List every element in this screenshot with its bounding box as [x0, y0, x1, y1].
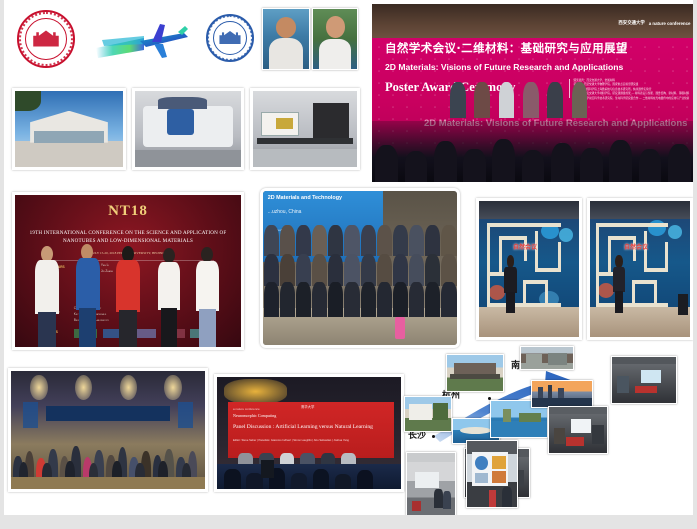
conference-grand-group-photo: [8, 368, 208, 492]
banner-sponsor-logos: 西安交通大学 a nature conference: [618, 20, 690, 26]
audience-head: [522, 150, 545, 182]
aircraft-icon: [92, 18, 192, 66]
portrait-head: [326, 16, 344, 38]
audience-head: [492, 139, 515, 182]
maze-line: [523, 280, 547, 284]
award-recipients-on-stage: [450, 82, 593, 118]
maze-line: [644, 231, 647, 272]
front-audience: [217, 464, 401, 489]
portrait-shirt: [319, 39, 351, 69]
river-city-skyline-dusk: [531, 380, 593, 408]
audience-head: [375, 145, 398, 182]
panel-stage: a nature conference Neuromorphic Computi…: [217, 377, 401, 489]
university-library-building: [12, 88, 126, 170]
attendee-rows: [263, 225, 457, 317]
person: [572, 82, 588, 118]
maze-line: [632, 280, 656, 284]
panel-discussion-photo: a nature conference Neuromorphic Computi…: [214, 374, 404, 492]
attendee-at-maze-backdrop-2: 自然会议: [587, 198, 693, 340]
stage-light: [178, 402, 194, 428]
seminar-room-slides: [548, 406, 608, 454]
audience-head: [580, 148, 603, 182]
optical-table: [257, 138, 353, 144]
sponsor-logo-nature: a nature conference: [649, 21, 691, 26]
library-windows: [34, 131, 103, 143]
speaker-box: [678, 294, 688, 316]
attendee-row-back: [263, 225, 457, 256]
maze-line: [499, 236, 502, 271]
chandelier: [120, 375, 137, 401]
backdrop-chinese-text: 自然会议: [513, 242, 537, 251]
stage-light: [23, 402, 39, 428]
conference-stage-banner: 西安交通大学 a nature conference 自然学术会议·二维材料：基…: [372, 4, 693, 182]
screen-plot: [276, 118, 293, 129]
panel-topic: Neuromorphic Computing: [233, 413, 276, 418]
maze-wall-art: 自然会议: [590, 201, 690, 337]
maze-line: [596, 223, 668, 227]
person: [523, 82, 539, 118]
person: [450, 82, 466, 118]
decor-circle: [559, 228, 573, 242]
attendee-row-mid: [263, 254, 457, 285]
under-bench: [253, 149, 357, 167]
ceiling-lights: [479, 201, 579, 219]
person: [499, 82, 515, 118]
campus-gate-photo: [446, 354, 504, 392]
audience-head: [434, 141, 457, 182]
camera-tripod: [261, 460, 274, 478]
person: [155, 244, 186, 347]
instrument-enclosure: [313, 103, 348, 141]
lobby-floor: [590, 307, 690, 337]
panel-speakers: Editor: Steve Seber | Panelists: Giacomo…: [233, 439, 349, 442]
nt18-logo: NT18: [108, 203, 148, 220]
panel-title: Panel Discussion : Artificial Learning v…: [233, 424, 373, 430]
xiamen-university-seal: [206, 14, 254, 62]
male-researcher-portrait: [262, 8, 310, 70]
nt18-backdrop: NT18 19TH INTERNATIONAL CONFERENCE ON TH…: [15, 195, 241, 347]
chandelier: [75, 375, 92, 401]
attendee-at-maze-backdrop-1: 自然会议: [476, 198, 582, 340]
classroom-projector-talk: [466, 440, 518, 508]
banner-title-en: 2D Materials: Visions of Future Research…: [385, 62, 691, 72]
optical-bench-measurement-setup: [250, 88, 360, 170]
maze-line: [596, 223, 599, 307]
person-standing: [503, 255, 518, 312]
attendee-row-front-seated: [263, 282, 457, 317]
banner-title-cn: 自然学术会议·二维材料：基础研究与应用展望: [385, 40, 691, 56]
lobby-floor: [479, 307, 579, 337]
female-researcher-portrait: [312, 8, 358, 70]
maze-line: [487, 223, 490, 307]
ceiling-lights: [590, 201, 690, 219]
carpet: [11, 477, 205, 489]
plaza-ground: [15, 141, 123, 167]
person: [193, 244, 224, 347]
nt18-people-group: [29, 244, 232, 347]
grand-ballroom: [11, 371, 205, 489]
maze-line: [558, 242, 561, 272]
analytical-instrument-xrd: [132, 88, 244, 170]
decorative-ceiling-light: [224, 379, 287, 404]
person: [114, 244, 145, 347]
street-view-photo: [520, 346, 574, 370]
city-marker-changsha: [432, 435, 435, 438]
lab-floor: [135, 150, 241, 167]
maze-line: [608, 236, 611, 271]
person: [547, 82, 563, 118]
backdrop-chinese-text: 自然会议: [624, 242, 648, 251]
audience-head: [639, 149, 662, 182]
maze-line: [665, 242, 668, 272]
instrument-hood: [158, 97, 207, 109]
panel-brand: a nature conference: [233, 407, 260, 411]
instrument-panel: [167, 109, 195, 135]
person-standing: [612, 255, 626, 312]
group-photo-2d-materials: 2D Materials and Technology ...uzhou, Ch…: [260, 188, 460, 348]
maze-line: [487, 223, 561, 227]
meeting-room-presentation-1: [611, 356, 677, 404]
screen-title-line2: ...uzhou, China: [268, 209, 302, 215]
foliage: [15, 91, 41, 111]
audience-head: [668, 144, 691, 182]
portrait-shirt: [269, 38, 304, 69]
decor-circle: [668, 225, 682, 239]
led-screen: a nature conference Neuromorphic Computi…: [228, 402, 394, 458]
portrait-head: [276, 17, 296, 37]
person: [73, 244, 104, 347]
maze-line: [499, 236, 527, 240]
stage-screen: [46, 406, 170, 420]
maze-line: [535, 231, 538, 272]
lecture-hall-presentation: [406, 452, 456, 515]
maze-wall-art: 自然会议: [479, 201, 579, 337]
journey-map-region: 长沙 杭州 南京: [408, 352, 693, 514]
cfd-aircraft-graphic: [92, 18, 192, 66]
chandelier: [164, 375, 181, 401]
chandelier: [30, 375, 47, 401]
historic-campus-building: [404, 396, 452, 432]
nt18-conference-group-photo: NT18 19TH INTERNATIONAL CONFERENCE ON TH…: [12, 192, 244, 350]
poster-award-ceremony-photo: 西安交通大学 a nature conference 自然学术会议·二维材料：基…: [372, 4, 693, 182]
audience-head: [609, 140, 632, 182]
audience-head: [405, 151, 428, 182]
audience-crowd: [372, 129, 693, 182]
maze-line: [608, 236, 636, 240]
sponsor-logo-university: 西安交通大学: [618, 20, 644, 26]
screen-title-line1: 2D Materials and Technology: [268, 195, 342, 201]
panel-university-logo: 清华大学: [301, 404, 315, 409]
presentation-slide: 西安交通大学 a nature conference 自然学术会议·二维材料：基…: [4, 0, 693, 515]
person: [33, 244, 64, 347]
audience-head: [463, 149, 486, 182]
selfie-stick: [395, 317, 405, 339]
audience-head: [551, 143, 574, 183]
person: [474, 82, 490, 118]
hunan-university-seal: [17, 10, 75, 68]
